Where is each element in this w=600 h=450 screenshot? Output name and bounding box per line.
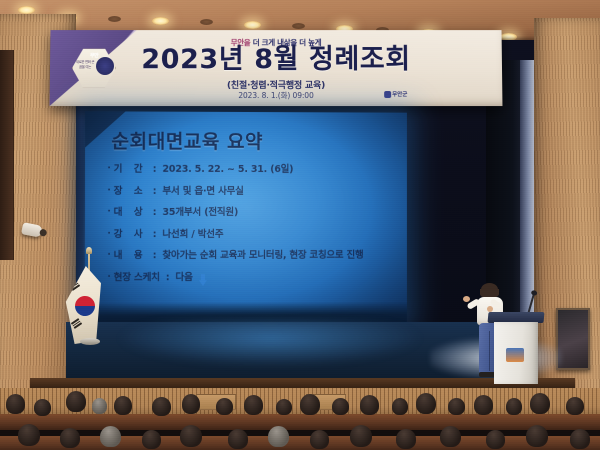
side-door [0,50,14,260]
projection-screen: 순회대면교육 요약 · 기 간 : 2023. 5. 22. ~ 5. 31. … [85,111,407,324]
banner-date: 2023. 8. 1.(화) 09:00 [50,90,503,101]
bullet-separator: : [153,229,157,240]
banner-logo: 무안군 [384,89,418,99]
audience-head [300,394,320,415]
list-item: · 기 간 : 2023. 5. 22. ~ 5. 31. (6일) [107,164,399,176]
list-item: · 현장 스케치 : 다음 [107,271,399,285]
audience-head [66,391,86,412]
bullet-separator: : [153,185,157,196]
audience-head [530,393,550,414]
bullet-marker: · [107,164,110,175]
audience-head [216,398,233,415]
audience-head [486,430,505,449]
slide-bullet-list: · 기 간 : 2023. 5. 22. ~ 5. 31. (6일) · 장 소… [107,164,399,296]
south-korea-flag-icon [61,266,101,344]
audience-head [416,393,436,414]
audience-head [34,399,51,416]
bullet-separator: : [153,207,157,218]
slide-title: 순회대면교육 요약 [111,127,263,155]
audience-head [440,426,461,447]
event-banner: 새로운 변화 큰 꿈을 여는 무안 무안을 더 크게 내삶을 더 높게 2023… [50,30,503,106]
audience-head [182,394,200,414]
bullet-separator: : [153,250,157,261]
bullet-label: 장 소 [114,185,147,196]
bullet-marker: · [107,229,110,240]
audience-head [152,397,171,416]
bullet-label: 강 사 [114,229,147,240]
lectern-body [494,322,538,384]
bullet-marker: · [107,207,110,218]
flag-stand [58,252,104,370]
taeguk-symbol-icon [71,292,98,319]
downlight-icon [108,16,121,22]
bullet-marker: · [107,250,110,261]
bullet-label: 대 상 [114,207,147,218]
bullet-separator: : [153,164,157,175]
bullet-label: 현장 스케치 [114,272,160,283]
bullet-value: 35개부서 (전직원) [162,207,238,218]
seat-row [0,414,600,430]
list-item: · 내 용 : 찾아가는 순회 교육과 모니터링, 현장 코칭으로 진행 [107,250,399,261]
downlight-icon [18,6,35,14]
lectern [494,312,538,382]
audience-head [142,430,161,449]
audience-head [392,398,408,415]
audience-head [396,429,416,449]
audience-head [570,429,590,449]
audience-head [6,394,25,414]
audience-head [60,428,80,448]
banner-logo-text: 무안군 [392,90,407,98]
downlight-icon [200,19,213,25]
bullet-separator: : [166,272,170,283]
downlight-icon [292,23,305,29]
audience-head [244,395,263,415]
downlight-icon [152,17,169,25]
arrow-down-icon [199,274,208,287]
audience-head [474,395,493,415]
audience-head [448,398,465,415]
stage-floor-reflection [120,320,420,366]
logo-mark-icon [384,91,391,98]
flag-base [80,338,100,345]
audience-head [268,426,289,447]
audience-head [506,398,522,415]
audience-head [566,397,584,415]
bullet-value: 부서 및 읍·면 사무실 [162,185,243,196]
list-item: · 강 사 : 나선희 / 박선주 [107,228,399,239]
seat-row [0,436,600,450]
audience-head [180,425,202,447]
audience-head [18,424,40,446]
bullet-marker: · [107,185,110,196]
list-item: · 장 소 : 부서 및 읍·면 사무실 [107,185,399,196]
bullet-value: 2023. 5. 22. ~ 5. 31. (6일) [162,164,293,175]
bullet-label: 기 간 [114,164,147,175]
banner-title: 2023년 8월 정례조회 [50,44,502,76]
audience-head [360,395,379,415]
audience-head [114,396,132,415]
bullet-value: 다음 [176,272,193,283]
audience-head [276,399,292,415]
audience-head [228,429,248,449]
auditorium-photo: 새로운 변화 큰 꿈을 여는 무안 무안을 더 크게 내삶을 더 높게 2023… [0,0,600,450]
bullet-marker: · [107,272,110,283]
lectern-logo-icon [506,348,524,362]
audience-head [92,398,107,414]
bullet-value: 찾아가는 순회 교육과 모니터링, 현장 코칭으로 진행 [162,250,363,261]
trigram-icon [69,280,80,291]
downlight-icon [244,21,261,29]
audience-head [350,425,372,447]
audience-head [332,398,349,415]
bullet-value: 나선희 / 박선주 [162,229,223,240]
audience-head [526,425,548,447]
bullet-label: 내 용 [114,250,147,261]
audience-head [100,426,121,447]
presenter-left-hand [463,296,470,302]
audience-head [310,430,329,449]
trigram-icon [71,318,82,329]
list-item: · 대 상 : 35개부서 (전직원) [107,207,399,218]
presenter-hair [481,283,498,296]
